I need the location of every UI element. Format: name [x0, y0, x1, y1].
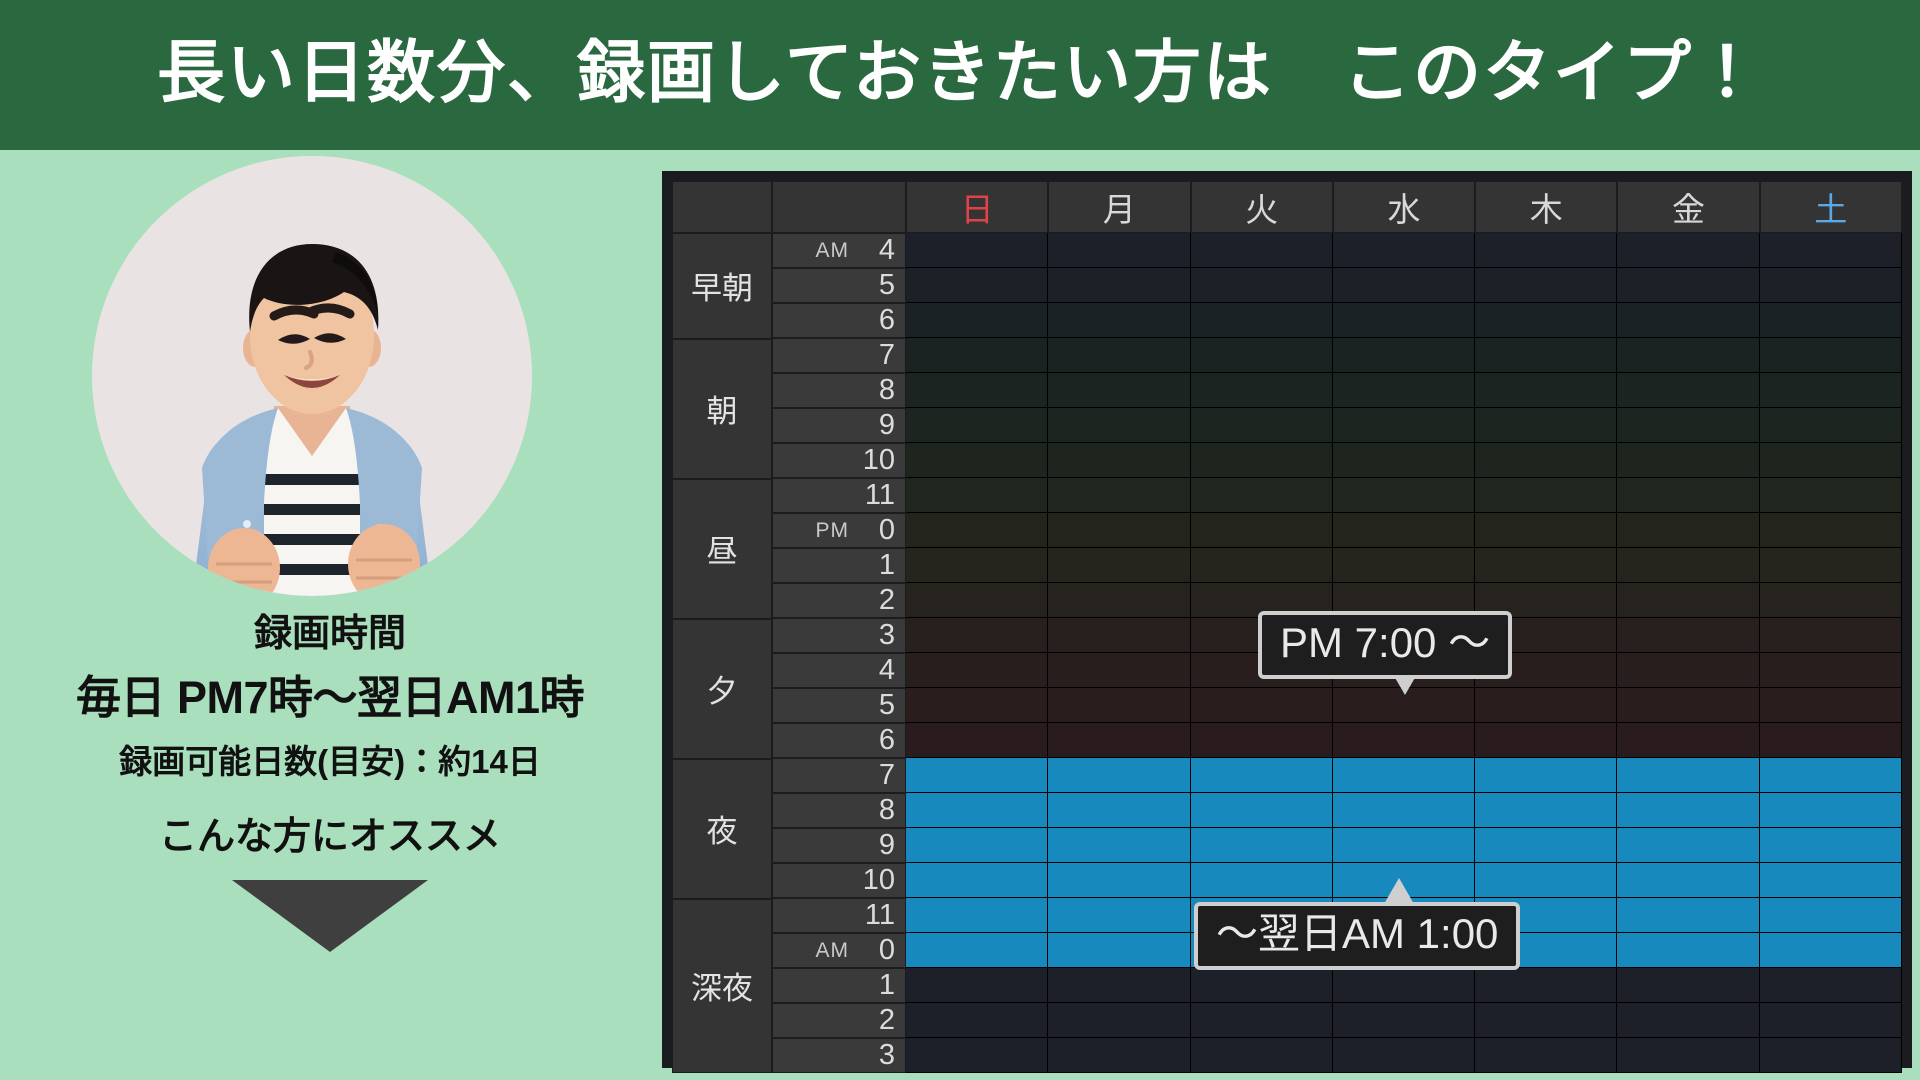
day-header-5[interactable]: 金 — [1617, 181, 1759, 233]
schedule-body: 早朝朝昼夕夜深夜 AM4567891011PM01234567891011AM0… — [672, 233, 1902, 1073]
slot-4-5[interactable] — [1475, 408, 1616, 443]
hour-number: 6 — [857, 724, 895, 757]
slot-0-2[interactable] — [906, 303, 1047, 338]
meridiem-label: PM — [816, 519, 850, 543]
record-time-value: 毎日 PM7時〜翌日AM1時 — [0, 675, 660, 720]
slot-6-8[interactable] — [1760, 513, 1901, 548]
hour-label-13: 5 — [772, 688, 906, 723]
callout-end-pointer-icon — [1384, 878, 1414, 904]
slot-0-15[interactable] — [906, 758, 1047, 793]
day-header-1[interactable]: 月 — [1048, 181, 1190, 233]
hour-column: AM4567891011PM01234567891011AM0123 — [772, 233, 906, 1073]
hour-label-21: 1 — [772, 968, 906, 1003]
record-time-label: 録画時間 — [0, 615, 660, 653]
slot-5-2[interactable] — [1617, 303, 1758, 338]
slot-6-17[interactable] — [1760, 828, 1901, 863]
slot-3-2[interactable] — [1333, 303, 1474, 338]
slot-2-2[interactable] — [1191, 303, 1332, 338]
slot-5-3[interactable] — [1617, 338, 1758, 373]
slot-1-1[interactable] — [1048, 268, 1189, 303]
hour-number: 7 — [857, 339, 895, 372]
slot-0-14[interactable] — [906, 723, 1047, 758]
day-column-5 — [1617, 233, 1759, 1073]
slot-3-3[interactable] — [1333, 338, 1474, 373]
slot-5-7[interactable] — [1617, 478, 1758, 513]
hour-label-18: 10 — [772, 863, 906, 898]
hour-label-9: 1 — [772, 548, 906, 583]
slot-6-20[interactable] — [1760, 933, 1901, 968]
slot-3-8[interactable] — [1333, 513, 1474, 548]
hour-label-10: 2 — [772, 583, 906, 618]
hour-number: 10 — [857, 444, 895, 477]
slot-3-4[interactable] — [1333, 373, 1474, 408]
slot-6-22[interactable] — [1760, 1003, 1901, 1038]
slot-1-15[interactable] — [1048, 758, 1189, 793]
slot-4-23[interactable] — [1475, 1038, 1616, 1073]
slot-6-3[interactable] — [1760, 338, 1901, 373]
slot-3-23[interactable] — [1333, 1038, 1474, 1073]
record-days-note: 録画可能日数(目安)：約14日 — [0, 745, 660, 778]
slot-4-17[interactable] — [1475, 828, 1616, 863]
slot-0-18[interactable] — [906, 863, 1047, 898]
hour-column-corner — [772, 181, 906, 233]
slot-5-23[interactable] — [1617, 1038, 1758, 1073]
hour-label-6: 10 — [772, 443, 906, 478]
slot-5-4[interactable] — [1617, 373, 1758, 408]
slot-4-14[interactable] — [1475, 723, 1616, 758]
schedule-panel: 日月火水木金土 早朝朝昼夕夜深夜 AM4567891011PM012345678… — [662, 171, 1912, 1068]
slot-6-0[interactable] — [1760, 233, 1901, 268]
slot-6-21[interactable] — [1760, 968, 1901, 1003]
slot-0-12[interactable] — [906, 653, 1047, 688]
slot-5-0[interactable] — [1617, 233, 1758, 268]
page-header: 長い日数分、録画しておきたい方は このタイプ！ — [0, 0, 1920, 150]
slot-1-2[interactable] — [1048, 303, 1189, 338]
slot-3-21[interactable] — [1333, 968, 1474, 1003]
slot-1-13[interactable] — [1048, 688, 1189, 723]
slot-6-1[interactable] — [1760, 268, 1901, 303]
slot-4-4[interactable] — [1475, 373, 1616, 408]
slot-2-15[interactable] — [1191, 758, 1332, 793]
time-band-1: 朝 — [672, 339, 772, 479]
slot-0-17[interactable] — [906, 828, 1047, 863]
slot-0-22[interactable] — [906, 1003, 1047, 1038]
slot-3-17[interactable] — [1333, 828, 1474, 863]
slot-6-10[interactable] — [1760, 583, 1901, 618]
hour-label-0: AM4 — [772, 233, 906, 268]
slot-6-16[interactable] — [1760, 793, 1901, 828]
slot-5-6[interactable] — [1617, 443, 1758, 478]
slot-5-5[interactable] — [1617, 408, 1758, 443]
hour-number: 4 — [857, 234, 895, 267]
hour-label-5: 9 — [772, 408, 906, 443]
slot-5-10[interactable] — [1617, 583, 1758, 618]
hour-number: 8 — [857, 794, 895, 827]
slot-1-4[interactable] — [1048, 373, 1189, 408]
meridiem-label: AM — [816, 239, 850, 263]
slot-6-11[interactable] — [1760, 618, 1901, 653]
hour-label-8: PM0 — [772, 513, 906, 548]
day-header-0[interactable]: 日 — [906, 181, 1048, 233]
time-band-3: 夕 — [672, 619, 772, 759]
down-triangle-icon — [0, 880, 660, 952]
slot-1-22[interactable] — [1048, 1003, 1189, 1038]
slot-1-3[interactable] — [1048, 338, 1189, 373]
slot-5-1[interactable] — [1617, 268, 1758, 303]
slot-2-9[interactable] — [1191, 548, 1332, 583]
schedule-header-row: 日月火水木金土 — [672, 181, 1902, 233]
slot-3-16[interactable] — [1333, 793, 1474, 828]
slot-2-7[interactable] — [1191, 478, 1332, 513]
slot-0-19[interactable] — [906, 898, 1047, 933]
slot-4-0[interactable] — [1475, 233, 1616, 268]
slot-0-9[interactable] — [906, 548, 1047, 583]
slot-2-4[interactable] — [1191, 373, 1332, 408]
hour-number: 3 — [857, 619, 895, 652]
slot-2-23[interactable] — [1191, 1038, 1332, 1073]
slot-4-2[interactable] — [1475, 303, 1616, 338]
slot-4-8[interactable] — [1475, 513, 1616, 548]
slot-4-3[interactable] — [1475, 338, 1616, 373]
slot-0-7[interactable] — [906, 478, 1047, 513]
slot-0-16[interactable] — [906, 793, 1047, 828]
slot-0-13[interactable] — [906, 688, 1047, 723]
hour-number: 4 — [857, 654, 895, 687]
day-header-6[interactable]: 土 — [1760, 181, 1902, 233]
slot-1-9[interactable] — [1048, 548, 1189, 583]
slot-4-1[interactable] — [1475, 268, 1616, 303]
slot-2-0[interactable] — [1191, 233, 1332, 268]
slot-6-14[interactable] — [1760, 723, 1901, 758]
slot-5-14[interactable] — [1617, 723, 1758, 758]
hour-number: 3 — [857, 1039, 895, 1072]
slot-4-21[interactable] — [1475, 968, 1616, 1003]
slot-0-11[interactable] — [906, 618, 1047, 653]
left-info-panel: 録画時間 毎日 PM7時〜翌日AM1時 録画可能日数(目安)：約14日 こんな方… — [0, 150, 660, 1080]
hour-number: 7 — [857, 759, 895, 792]
day-header-3[interactable]: 水 — [1333, 181, 1475, 233]
slot-0-8[interactable] — [906, 513, 1047, 548]
slot-1-17[interactable] — [1048, 828, 1189, 863]
slot-1-12[interactable] — [1048, 653, 1189, 688]
hour-label-2: 6 — [772, 303, 906, 338]
slot-1-21[interactable] — [1048, 968, 1189, 1003]
hour-label-19: 11 — [772, 898, 906, 933]
callout-start-time: PM 7:00 〜 — [1258, 611, 1512, 679]
slot-3-6[interactable] — [1333, 443, 1474, 478]
meridiem-label: AM — [816, 939, 850, 963]
slot-6-2[interactable] — [1760, 303, 1901, 338]
slot-6-18[interactable] — [1760, 863, 1901, 898]
slot-2-14[interactable] — [1191, 723, 1332, 758]
slot-0-21[interactable] — [906, 968, 1047, 1003]
slot-4-22[interactable] — [1475, 1003, 1616, 1038]
hour-label-14: 6 — [772, 723, 906, 758]
slot-1-23[interactable] — [1048, 1038, 1189, 1073]
recommendation-label: こんな方にオススメ — [0, 818, 660, 856]
slot-1-5[interactable] — [1048, 408, 1189, 443]
hour-label-16: 8 — [772, 793, 906, 828]
time-band-0: 早朝 — [672, 233, 772, 339]
day-header-2[interactable]: 火 — [1191, 181, 1333, 233]
slot-1-8[interactable] — [1048, 513, 1189, 548]
slot-5-12[interactable] — [1617, 653, 1758, 688]
slot-2-21[interactable] — [1191, 968, 1332, 1003]
slot-2-18[interactable] — [1191, 863, 1332, 898]
slot-4-13[interactable] — [1475, 688, 1616, 723]
slot-1-16[interactable] — [1048, 793, 1189, 828]
hour-label-22: 2 — [772, 1003, 906, 1038]
hour-number: 11 — [857, 899, 895, 932]
slot-0-0[interactable] — [906, 233, 1047, 268]
slot-3-15[interactable] — [1333, 758, 1474, 793]
hour-number: 5 — [857, 689, 895, 722]
schedule-grid: 日月火水木金土 早朝朝昼夕夜深夜 AM4567891011PM012345678… — [672, 181, 1902, 1054]
hour-number: 2 — [857, 1004, 895, 1037]
slot-0-5[interactable] — [906, 408, 1047, 443]
slot-0-1[interactable] — [906, 268, 1047, 303]
day-column-6 — [1760, 233, 1902, 1073]
hour-label-23: 3 — [772, 1038, 906, 1073]
hour-number: 1 — [857, 549, 895, 582]
slot-3-1[interactable] — [1333, 268, 1474, 303]
hour-number: 10 — [857, 864, 895, 897]
hour-label-4: 8 — [772, 373, 906, 408]
time-band-2: 昼 — [672, 479, 772, 619]
slot-1-19[interactable] — [1048, 898, 1189, 933]
band-column-corner — [672, 181, 772, 233]
slot-6-15[interactable] — [1760, 758, 1901, 793]
hour-number: 9 — [857, 409, 895, 442]
slot-0-3[interactable] — [906, 338, 1047, 373]
slot-5-17[interactable] — [1617, 828, 1758, 863]
slot-5-11[interactable] — [1617, 618, 1758, 653]
slot-0-4[interactable] — [906, 373, 1047, 408]
slot-4-9[interactable] — [1475, 548, 1616, 583]
day-column-1 — [1048, 233, 1190, 1073]
avatar — [92, 156, 532, 596]
slot-3-5[interactable] — [1333, 408, 1474, 443]
slot-4-7[interactable] — [1475, 478, 1616, 513]
hour-label-7: 11 — [772, 478, 906, 513]
hour-label-17: 9 — [772, 828, 906, 863]
time-band-5: 深夜 — [672, 899, 772, 1074]
slot-6-13[interactable] — [1760, 688, 1901, 723]
slot-1-6[interactable] — [1048, 443, 1189, 478]
hour-number: 2 — [857, 584, 895, 617]
hour-number: 9 — [857, 829, 895, 862]
slot-4-6[interactable] — [1475, 443, 1616, 478]
hour-label-20: AM0 — [772, 933, 906, 968]
slot-6-19[interactable] — [1760, 898, 1901, 933]
page-title: 長い日数分、録画しておきたい方は このタイプ！ — [157, 39, 1763, 107]
slot-2-8[interactable] — [1191, 513, 1332, 548]
slot-1-0[interactable] — [1048, 233, 1189, 268]
slot-5-16[interactable] — [1617, 793, 1758, 828]
slot-2-17[interactable] — [1191, 828, 1332, 863]
slot-3-7[interactable] — [1333, 478, 1474, 513]
hour-number: 6 — [857, 304, 895, 337]
hour-number: 0 — [857, 934, 895, 967]
slot-5-21[interactable] — [1617, 968, 1758, 1003]
slot-2-16[interactable] — [1191, 793, 1332, 828]
slot-6-23[interactable] — [1760, 1038, 1901, 1073]
slot-6-5[interactable] — [1760, 408, 1901, 443]
day-column-0 — [906, 233, 1048, 1073]
hour-label-15: 7 — [772, 758, 906, 793]
slot-3-14[interactable] — [1333, 723, 1474, 758]
time-band-column: 早朝朝昼夕夜深夜 — [672, 233, 772, 1073]
day-columns-area: PM 7:00 〜 〜翌日AM 1:00 — [906, 233, 1902, 1073]
slot-2-5[interactable] — [1191, 408, 1332, 443]
slot-5-18[interactable] — [1617, 863, 1758, 898]
slot-1-11[interactable] — [1048, 618, 1189, 653]
slot-1-14[interactable] — [1048, 723, 1189, 758]
hour-label-11: 3 — [772, 618, 906, 653]
hour-label-1: 5 — [772, 268, 906, 303]
slot-2-3[interactable] — [1191, 338, 1332, 373]
slot-5-15[interactable] — [1617, 758, 1758, 793]
slot-6-12[interactable] — [1760, 653, 1901, 688]
slot-4-16[interactable] — [1475, 793, 1616, 828]
slot-5-20[interactable] — [1617, 933, 1758, 968]
slot-5-22[interactable] — [1617, 1003, 1758, 1038]
slot-1-7[interactable] — [1048, 478, 1189, 513]
slot-2-22[interactable] — [1191, 1003, 1332, 1038]
slot-6-9[interactable] — [1760, 548, 1901, 583]
callout-end-time: 〜翌日AM 1:00 — [1194, 902, 1520, 970]
slot-2-13[interactable] — [1191, 688, 1332, 723]
slot-1-18[interactable] — [1048, 863, 1189, 898]
slot-6-7[interactable] — [1760, 478, 1901, 513]
slot-0-6[interactable] — [906, 443, 1047, 478]
day-header-4[interactable]: 木 — [1475, 181, 1617, 233]
slot-3-0[interactable] — [1333, 233, 1474, 268]
time-band-4: 夜 — [672, 759, 772, 899]
hour-number: 0 — [857, 514, 895, 547]
slot-1-10[interactable] — [1048, 583, 1189, 618]
slot-5-19[interactable] — [1617, 898, 1758, 933]
slot-3-9[interactable] — [1333, 548, 1474, 583]
hour-number: 1 — [857, 969, 895, 1002]
slot-6-6[interactable] — [1760, 443, 1901, 478]
slot-3-22[interactable] — [1333, 1003, 1474, 1038]
slot-0-20[interactable] — [906, 933, 1047, 968]
hour-number: 5 — [857, 269, 895, 302]
slot-5-13[interactable] — [1617, 688, 1758, 723]
slot-5-9[interactable] — [1617, 548, 1758, 583]
hour-number: 8 — [857, 374, 895, 407]
slot-4-15[interactable] — [1475, 758, 1616, 793]
slot-2-1[interactable] — [1191, 268, 1332, 303]
slot-1-20[interactable] — [1048, 933, 1189, 968]
hour-label-3: 7 — [772, 338, 906, 373]
slot-0-23[interactable] — [906, 1038, 1047, 1073]
slot-5-8[interactable] — [1617, 513, 1758, 548]
hour-label-12: 4 — [772, 653, 906, 688]
page-body: 録画時間 毎日 PM7時〜翌日AM1時 録画可能日数(目安)：約14日 こんな方… — [0, 150, 1920, 1080]
slot-6-4[interactable] — [1760, 373, 1901, 408]
slot-2-6[interactable] — [1191, 443, 1332, 478]
slot-0-10[interactable] — [906, 583, 1047, 618]
hour-number: 11 — [857, 479, 895, 512]
slot-4-18[interactable] — [1475, 863, 1616, 898]
